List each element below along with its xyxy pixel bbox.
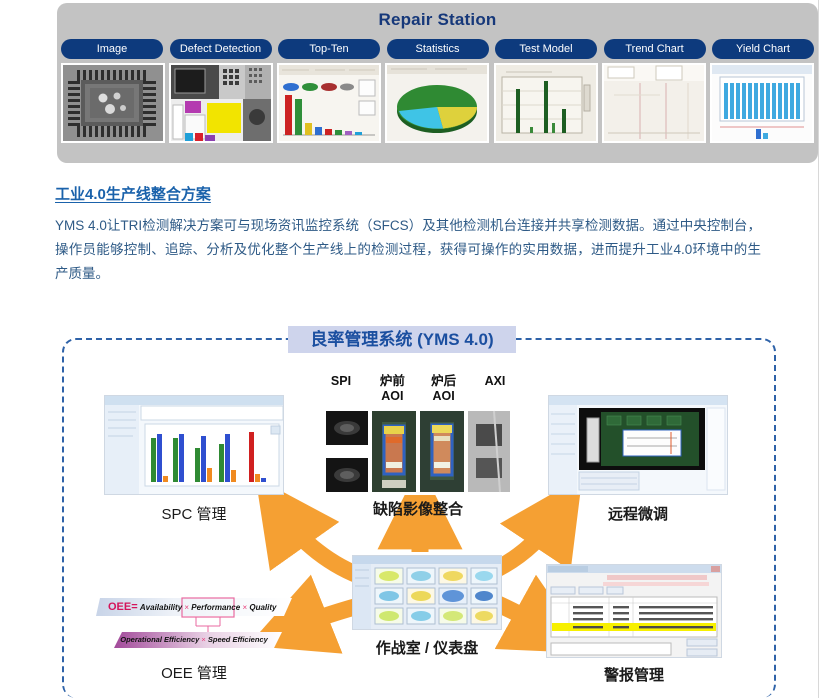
sensor-label-post-reflow-aoi: 炉后 AOI	[421, 374, 467, 404]
oee-term-availability: Availability	[140, 603, 182, 612]
defect-mosaic-image	[171, 65, 271, 141]
thumbnail-trend-chart[interactable]	[602, 63, 706, 143]
repair-station-thumbnail-row	[61, 63, 814, 143]
war-room-dashboard-screenshot[interactable]	[352, 555, 502, 630]
page-right-edge	[818, 0, 826, 698]
oee-acronym: OEE	[96, 601, 131, 613]
repair-station-tab-row: Image Defect Detection Top-Ten Statistic…	[61, 39, 814, 59]
alarm-node-label: 警报管理	[546, 664, 722, 685]
tab-defect-detection[interactable]: Defect Detection	[170, 39, 272, 59]
oee-equals: =	[131, 601, 137, 613]
alarm-screenshot[interactable]	[546, 564, 722, 658]
sensor-label-pre-reflow-aoi: 炉前 AOI	[369, 374, 415, 404]
oee-term-quality: Quality	[249, 603, 276, 612]
oee-sub-term-speed: Speed Efficiency	[208, 635, 268, 644]
sensor-post-aoi-line1: 炉后	[431, 374, 456, 388]
top-ten-bar-chart	[279, 65, 379, 141]
oee-formula-graphic: OEE= Availability × Performance × Qualit…	[96, 596, 292, 652]
yield-bar-chart	[712, 65, 812, 141]
tab-top-ten[interactable]: Top-Ten	[278, 39, 380, 59]
sensor-post-aoi-line2: AOI	[433, 389, 455, 403]
tab-test-model[interactable]: Test Model	[495, 39, 597, 59]
repair-station-panel: Repair Station Image Defect Detection To…	[57, 3, 818, 163]
sensor-spi-text: SPI	[331, 374, 351, 388]
thumbnail-statistics[interactable]	[385, 63, 489, 143]
thumbnail-image[interactable]	[61, 63, 165, 143]
oee-node-label: OEE 管理	[96, 662, 292, 683]
tab-image[interactable]: Image	[61, 39, 163, 59]
thumbnail-top-ten[interactable]	[277, 63, 381, 143]
sensor-pre-aoi-line1: 炉前	[380, 374, 405, 388]
sensor-label-axi: AXI	[472, 374, 518, 404]
sensor-axi-text: AXI	[485, 374, 506, 388]
sensor-label-row: SPI 炉前 AOI 炉后 AOI AXI	[318, 374, 518, 404]
tab-statistics[interactable]: Statistics	[387, 39, 489, 59]
ic-chip-image	[63, 65, 163, 141]
oee-operator-1: ×	[184, 603, 189, 612]
page-root: Repair Station Image Defect Detection To…	[0, 0, 826, 698]
thumbnail-yield-chart[interactable]	[710, 63, 814, 143]
thumbnail-test-model[interactable]	[494, 63, 598, 143]
center-node-label: 作战室 / 仪表盘	[340, 637, 514, 658]
remote-node-label: 远程微调	[548, 503, 728, 524]
yms-diagram-title: 良率管理系统 (YMS 4.0)	[288, 326, 516, 353]
test-model-spike-chart	[496, 65, 596, 141]
oee-sub-operator: ×	[201, 635, 205, 644]
tab-yield-chart[interactable]: Yield Chart	[712, 39, 814, 59]
statistics-pie-chart	[387, 65, 487, 141]
spc-node-label: SPC 管理	[104, 503, 284, 524]
remote-screenshot[interactable]	[548, 395, 728, 495]
oee-operator-2: ×	[242, 603, 247, 612]
trend-chart	[604, 65, 704, 141]
section-body-text: YMS 4.0让TRI检测解决方案可与现场资讯监控系统（SFCS）及其他检测机台…	[55, 214, 761, 286]
defect-node-label: 缺陷影像整合	[324, 498, 512, 519]
sensor-pre-aoi-line2: AOI	[381, 389, 403, 403]
sensor-label-spi: SPI	[318, 374, 364, 404]
section-heading: 工业4.0生产线整合方案	[55, 183, 211, 204]
oee-term-performance: Performance	[191, 603, 240, 612]
spc-screenshot[interactable]	[104, 395, 284, 495]
repair-station-title: Repair Station	[57, 10, 818, 30]
oee-sub-term-operational: Operational Efficiency	[120, 635, 199, 644]
tab-trend-chart[interactable]: Trend Chart	[604, 39, 706, 59]
thumbnail-defect-detection[interactable]	[169, 63, 273, 143]
defect-image-strip[interactable]	[324, 410, 512, 495]
